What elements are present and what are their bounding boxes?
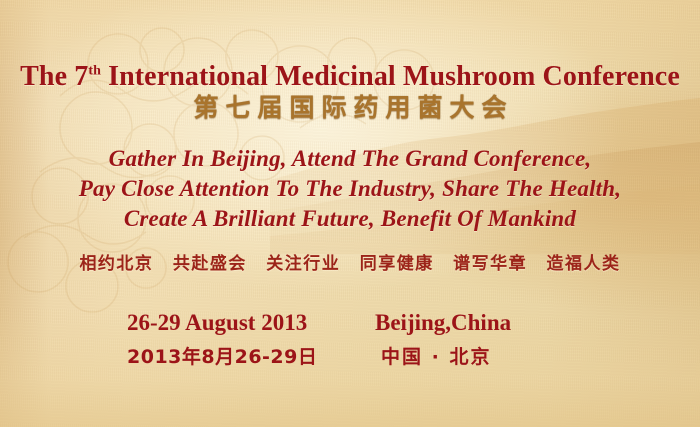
banner-content: The 7th International Medicinal Mushroom…	[0, 0, 700, 427]
event-details: 26-29 August 2013 Beijing,China 2013年8月2…	[0, 306, 700, 374]
slogan-english-line-1: Gather In Beijing, Attend The Grand Conf…	[18, 144, 682, 174]
event-date-chinese: 2013年8月26-29日	[115, 340, 375, 374]
slogan-chinese: 相约北京 共赴盛会 关注行业 同享健康 谱写华章 造福人类	[0, 249, 700, 274]
event-location-english: Beijing,China	[375, 306, 585, 340]
slogan-chinese-part-4: 同享健康	[360, 254, 434, 274]
slogan-chinese-part-6: 造福人类	[547, 254, 621, 274]
slogan-english-line-3: Create A Brilliant Future, Benefit Of Ma…	[18, 204, 682, 234]
conference-banner: The 7th International Medicinal Mushroom…	[0, 0, 700, 427]
conference-title-chinese: 第七届国际药用菌大会	[0, 88, 700, 124]
event-details-english-row: 26-29 August 2013 Beijing,China	[0, 306, 700, 340]
event-date-english: 26-29 August 2013	[115, 306, 375, 340]
slogan-english-line-2: Pay Close Attention To The Industry, Sha…	[18, 174, 682, 204]
event-details-chinese-row: 2013年8月26-29日 中国 · 北京	[0, 340, 700, 374]
slogan-english: Gather In Beijing, Attend The Grand Conf…	[18, 144, 682, 234]
slogan-chinese-part-3: 关注行业	[266, 254, 340, 274]
title-ordinal-suffix: th	[88, 63, 101, 78]
slogan-chinese-part-5: 谱写华章	[453, 254, 527, 274]
slogan-chinese-part-2: 共赴盛会	[173, 254, 247, 274]
slogan-chinese-part-1: 相约北京	[79, 254, 153, 274]
event-location-chinese: 中国 · 北京	[375, 340, 585, 374]
